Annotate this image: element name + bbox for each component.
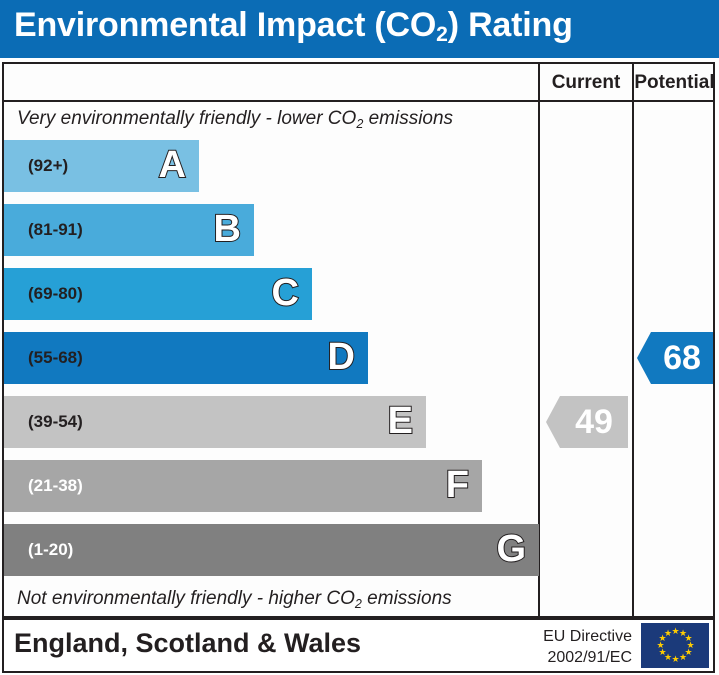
rating-band-range-b: (81-91) <box>28 204 83 256</box>
footer-directive-line2: 2002/91/EC <box>520 647 632 668</box>
caption-top-suffix: emissions <box>363 108 453 129</box>
rating-band-e: (39-54)E <box>4 396 426 448</box>
current-rating-value: 49 <box>546 396 628 448</box>
chart-title-bar: Environmental Impact (CO2) Rating <box>0 0 719 58</box>
epc-environmental-impact-chart: Environmental Impact (CO2) Rating Curren… <box>0 0 719 675</box>
eu-flag-star: ★ <box>664 630 671 637</box>
column-header-current: Current <box>540 70 632 96</box>
eu-flag-star: ★ <box>659 649 666 656</box>
rating-band-f: (21-38)F <box>4 460 482 512</box>
rating-band-range-e: (39-54) <box>28 396 83 448</box>
page-title-subscript: 2 <box>436 23 448 46</box>
rating-band-letter-f: F <box>446 460 469 512</box>
caption-top: Very environmentally friendly - lower CO… <box>17 108 453 130</box>
rating-band-range-d: (55-68) <box>28 332 83 384</box>
rating-band-range-g: (1-20) <box>28 524 73 576</box>
caption-top-prefix: Very environmentally friendly - lower CO <box>17 108 356 129</box>
potential-rating-value: 68 <box>637 332 713 384</box>
rating-band-letter-g: G <box>496 524 526 576</box>
caption-bottom-suffix: emissions <box>362 588 452 609</box>
rating-band-letter-a: A <box>159 140 186 192</box>
footer-directive: EU Directive 2002/91/EC <box>520 626 632 668</box>
caption-bottom-subscript: 2 <box>355 597 362 611</box>
page-title: Environmental Impact (CO2) Rating <box>14 6 573 45</box>
page-title-prefix: Environmental Impact (CO <box>14 6 436 44</box>
caption-bottom: Not environmentally friendly - higher CO… <box>17 588 452 610</box>
eu-flag-star: ★ <box>672 628 679 635</box>
rating-band-range-a: (92+) <box>28 140 68 192</box>
rating-band-g: (1-20)G <box>4 524 539 576</box>
rating-band-b: (81-91)B <box>4 204 254 256</box>
eu-flag-star: ★ <box>672 656 679 663</box>
potential-column-divider <box>632 62 634 618</box>
footer-directive-line1: EU Directive <box>520 626 632 647</box>
rating-band-letter-e: E <box>388 396 413 448</box>
footer-region-label: England, Scotland & Wales <box>14 628 361 659</box>
rating-band-letter-d: D <box>328 332 355 384</box>
eu-flag-star: ★ <box>679 654 686 661</box>
rating-band-c: (69-80)C <box>4 268 312 320</box>
rating-band-letter-c: C <box>272 268 299 320</box>
rating-band-range-f: (21-38) <box>28 460 83 512</box>
header-row-divider <box>2 100 715 102</box>
eu-flag-icon: ★★★★★★★★★★★★ <box>641 623 709 668</box>
page-title-suffix: ) Rating <box>448 6 573 44</box>
caption-top-subscript: 2 <box>356 117 363 131</box>
rating-band-range-c: (69-80) <box>28 268 83 320</box>
eu-flag-star: ★ <box>657 642 664 649</box>
caption-bottom-prefix: Not environmentally friendly - higher CO <box>17 588 355 609</box>
rating-band-letter-b: B <box>214 204 241 256</box>
rating-band-d: (55-68)D <box>4 332 368 384</box>
rating-band-a: (92+)A <box>4 140 199 192</box>
column-header-potential: Potential <box>634 70 715 96</box>
